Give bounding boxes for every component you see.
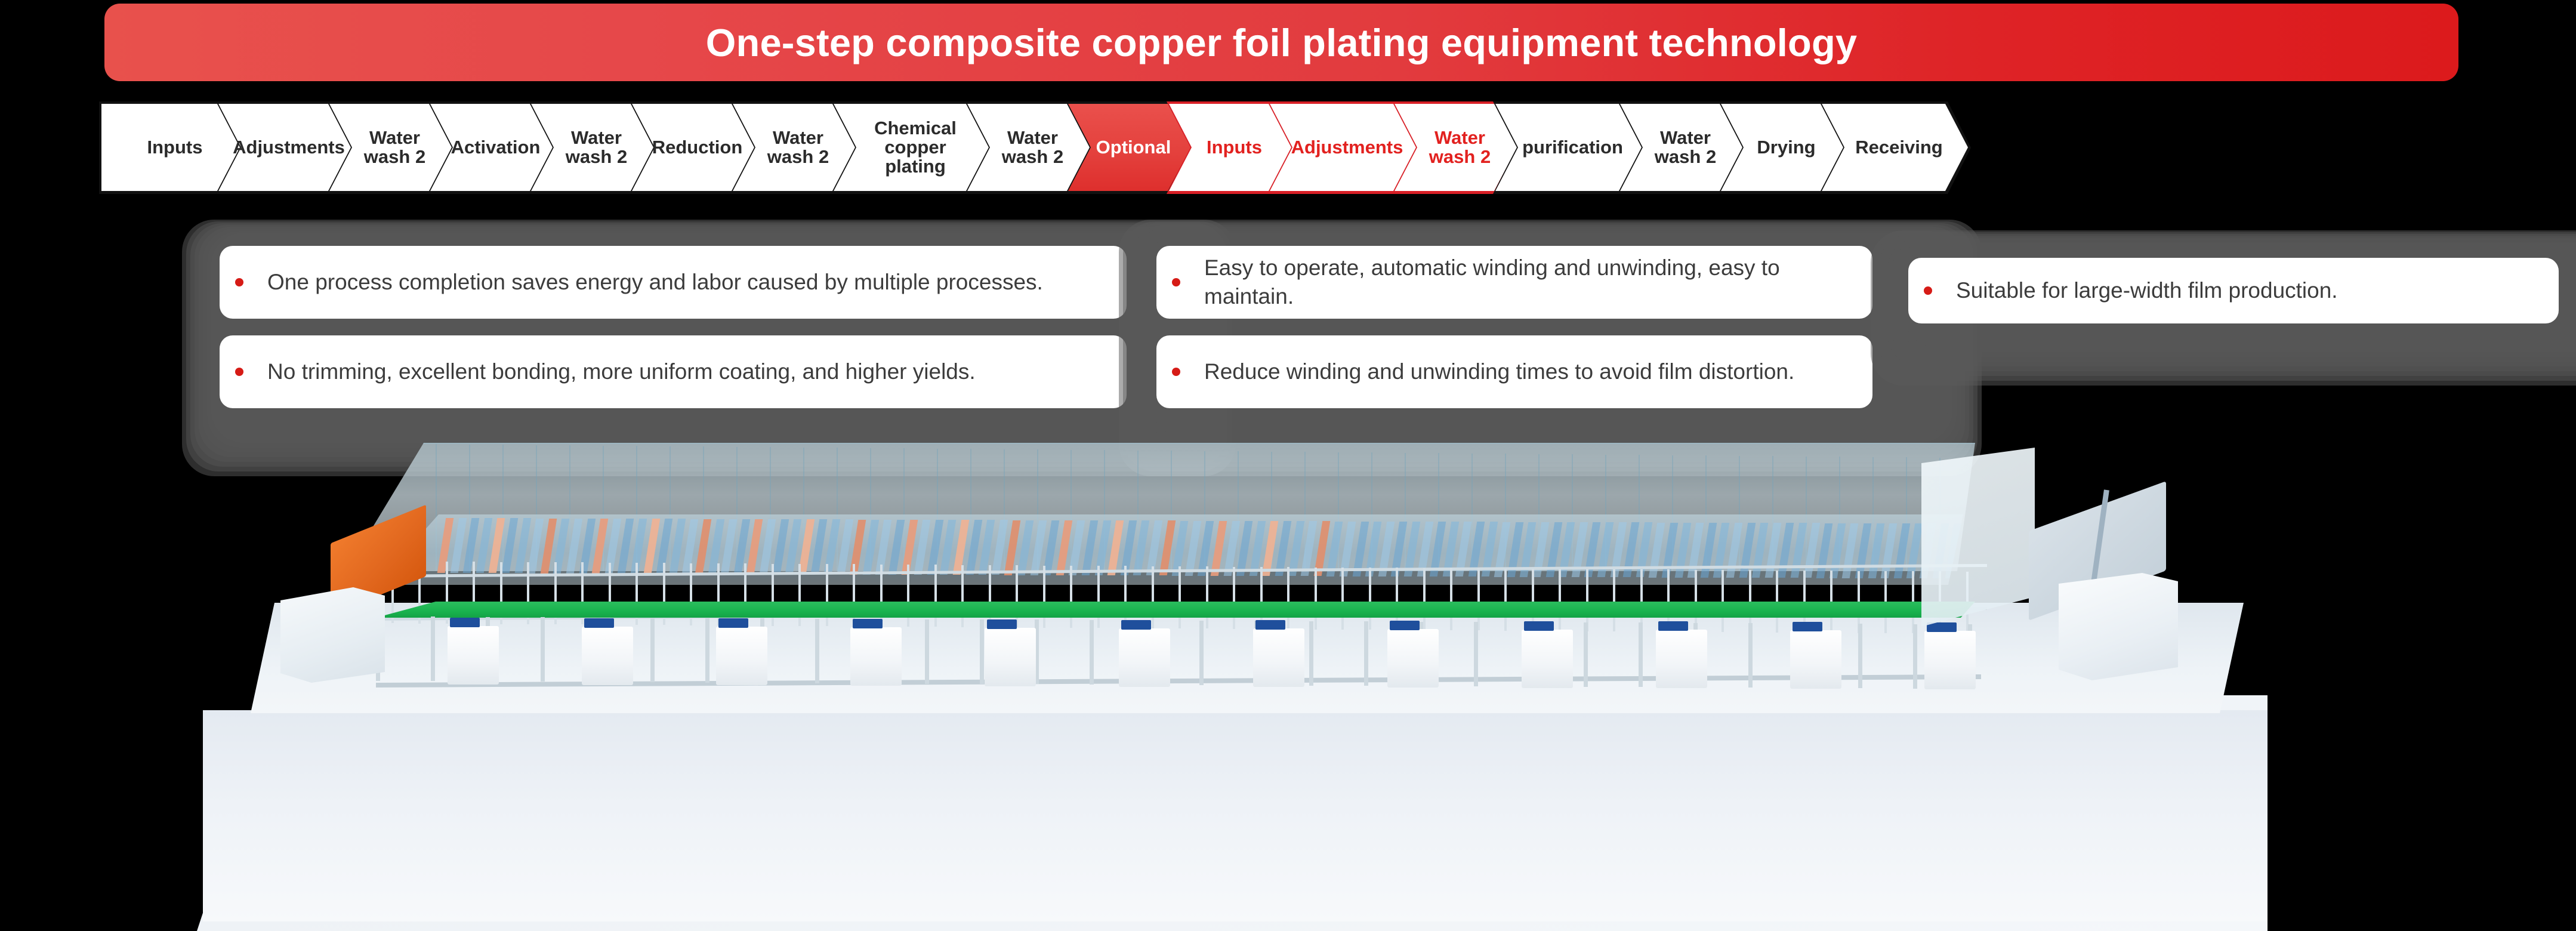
pump-cabinet (1522, 630, 1573, 688)
support-column (1639, 622, 1643, 687)
process-step-label: Reduction (652, 138, 743, 157)
feature-text: Reduce winding and unwinding times to av… (1204, 357, 1794, 386)
plating-line-machine (257, 448, 1987, 674)
platform-front-face (203, 710, 2268, 921)
green-catwalk-floor (376, 602, 1975, 618)
support-column (1364, 621, 1368, 686)
support-column (980, 619, 984, 684)
process-step-label: purification (1522, 138, 1623, 157)
process-step-label: Water wash 2 (767, 128, 829, 167)
support-column (815, 619, 819, 683)
process-step-label: Inputs (147, 138, 203, 157)
pump-cabinet (716, 627, 767, 685)
support-column (431, 616, 435, 681)
unwinder-unit (280, 523, 400, 683)
rewinder-unit (2005, 483, 2202, 680)
rewinder-cabinet (2059, 573, 2178, 680)
pump-cabinet (1253, 628, 1304, 687)
support-column (1858, 624, 1862, 688)
feature-card[interactable]: Easy to operate, automatic winding and u… (1156, 246, 1872, 319)
pump-cabinet (582, 627, 633, 685)
support-column (1090, 620, 1094, 685)
support-column (925, 619, 929, 684)
process-step-label: Water wash 2 (364, 128, 425, 167)
process-step-label: Drying (1757, 138, 1815, 157)
support-column (1309, 621, 1313, 686)
page-title-banner: One-step composite copper foil plating e… (104, 4, 2458, 81)
process-step-label: Activation (451, 138, 541, 157)
process-step-14[interactable]: purification (1495, 104, 1642, 191)
process-step-label: Adjustments (1291, 138, 1403, 157)
unwinder-cabinet (280, 587, 385, 683)
process-step-label: Water wash 2 (1429, 128, 1491, 167)
process-step-2[interactable]: Adjustments (218, 104, 351, 191)
process-step-label: Water wash 2 (1655, 128, 1716, 167)
support-column (1584, 622, 1588, 687)
process-step-label: Inputs (1207, 138, 1262, 157)
process-step-1[interactable]: Inputs (101, 104, 240, 191)
pump-cabinet (1656, 630, 1707, 688)
equipment-illustration (0, 454, 2576, 921)
feature-card[interactable]: Reduce winding and unwinding times to av… (1156, 335, 1872, 408)
process-step-label: Receiving (1855, 138, 1942, 157)
process-step-label: Optional (1096, 138, 1171, 157)
bullet-dot-icon (235, 278, 243, 286)
under-structure-frame (376, 616, 1981, 689)
support-column (1199, 621, 1204, 685)
support-column (1913, 624, 1917, 689)
pump-cabinet (1924, 631, 1976, 689)
pump-cabinet (1790, 630, 1841, 689)
process-step-12[interactable]: Adjustments (1270, 104, 1416, 191)
pump-cabinet (448, 626, 499, 685)
process-step-17[interactable]: Receiving (1822, 104, 1968, 191)
feature-text: Suitable for large-width film production… (1956, 276, 2338, 305)
bullet-dot-icon (1172, 368, 1180, 376)
bullet-dot-icon (1172, 278, 1180, 286)
feature-text: No trimming, excellent bonding, more uni… (267, 357, 976, 386)
support-column (705, 618, 709, 683)
feature-text: Easy to operate, automatic winding and u… (1204, 254, 1852, 311)
support-column (1474, 622, 1478, 686)
process-step-label: Chemical copper plating (874, 119, 957, 177)
page-title: One-step composite copper foil plating e… (706, 23, 1857, 62)
process-step-label: Water wash 2 (566, 128, 627, 167)
bullet-dot-icon (1924, 286, 1932, 295)
feature-card[interactable]: No trimming, excellent bonding, more uni… (220, 335, 1127, 408)
pump-cabinet (985, 628, 1036, 686)
bullet-dot-icon (235, 368, 243, 376)
pump-cabinet (1387, 629, 1439, 688)
support-column (541, 617, 545, 682)
support-column (650, 618, 655, 682)
process-flow-chevron-strip: InputsAdjustmentsWater wash 2ActivationW… (101, 104, 2470, 191)
process-step-label: Water wash 2 (1002, 128, 1063, 167)
railing-top-rail (364, 564, 1987, 578)
support-column (1748, 623, 1753, 688)
process-step-8[interactable]: Chemical copper plating (834, 104, 989, 191)
process-step-label: Adjustments (233, 138, 345, 157)
pump-cabinet (850, 627, 902, 686)
pump-cabinet (1119, 628, 1170, 687)
feature-card[interactable]: One process completion saves energy and … (220, 246, 1127, 319)
feature-card[interactable]: Suitable for large-width film production… (1908, 258, 2559, 323)
feature-text: One process completion saves energy and … (267, 268, 1043, 297)
